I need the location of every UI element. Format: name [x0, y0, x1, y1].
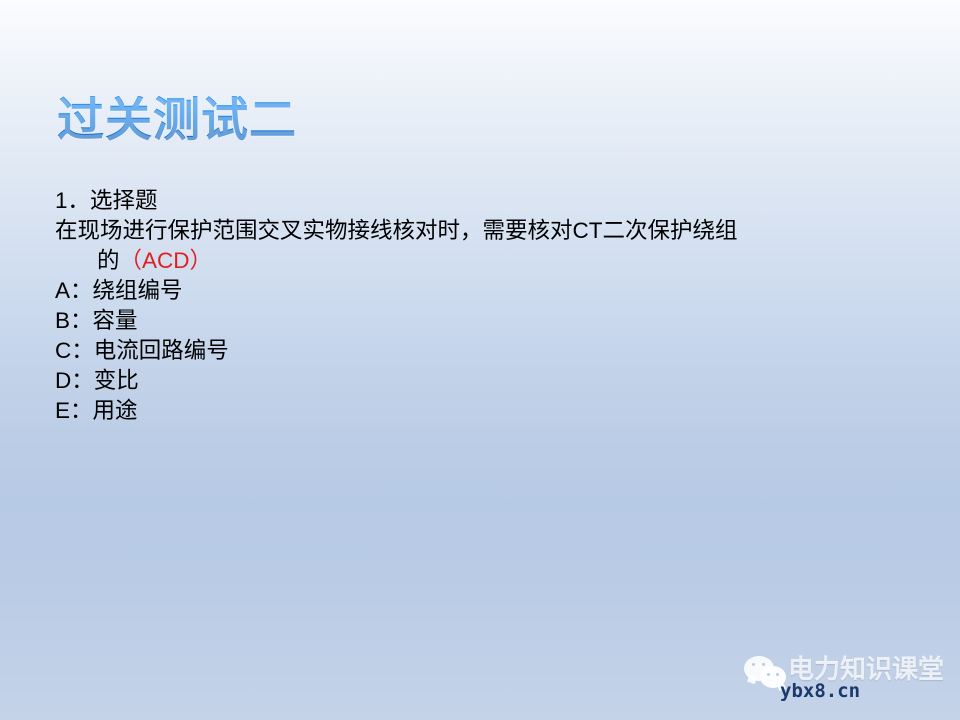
- option-e-text: 用途: [93, 398, 138, 423]
- option-c-text: 电流回路编号: [94, 338, 229, 363]
- slide-canvas: 过关测试二 过关测试二 1．选择题 在现场进行保护范围交叉实物接线核对时，需要核…: [0, 0, 960, 720]
- wechat-bubble-back-tail: [747, 675, 757, 684]
- wechat-eye-4: [776, 673, 779, 676]
- option-b: B：容量: [55, 306, 905, 336]
- wechat-eye-3: [767, 673, 770, 676]
- question-continuation: 的: [97, 248, 120, 273]
- option-a-text: 绕组编号: [93, 278, 183, 303]
- watermark: 电力知识课堂 ybx8.cn: [744, 652, 944, 710]
- option-a-letter: A：: [55, 278, 93, 303]
- question-text: 在现场进行保护范围交叉实物接线核对时，需要核对CT二次保护绕组: [55, 216, 887, 246]
- answer-key: （ACD）: [120, 248, 213, 273]
- option-d-letter: D：: [55, 368, 94, 393]
- wechat-eye-2: [762, 663, 765, 666]
- section-label: 1．选择题: [55, 186, 905, 216]
- page-title: 过关测试二: [57, 96, 297, 143]
- watermark-url: ybx8.cn: [780, 680, 860, 702]
- option-b-letter: B：: [55, 308, 93, 333]
- question-answer-line: 的（ACD）: [55, 246, 905, 276]
- question-sentence: 在现场进行保护范围交叉实物接线核对时，需要核对CT二次保护绕组: [55, 218, 738, 243]
- option-b-text: 容量: [93, 308, 138, 333]
- option-d: D：变比: [55, 366, 905, 396]
- option-e-letter: E：: [55, 398, 93, 423]
- option-d-text: 变比: [94, 368, 139, 393]
- wechat-eye-1: [752, 663, 755, 666]
- option-a: A：绕组编号: [55, 276, 905, 306]
- option-c: C：电流回路编号: [55, 336, 905, 366]
- slide-body: 1．选择题 在现场进行保护范围交叉实物接线核对时，需要核对CT二次保护绕组 的（…: [55, 186, 905, 426]
- option-e: E：用途: [55, 396, 905, 426]
- option-c-letter: C：: [55, 338, 94, 363]
